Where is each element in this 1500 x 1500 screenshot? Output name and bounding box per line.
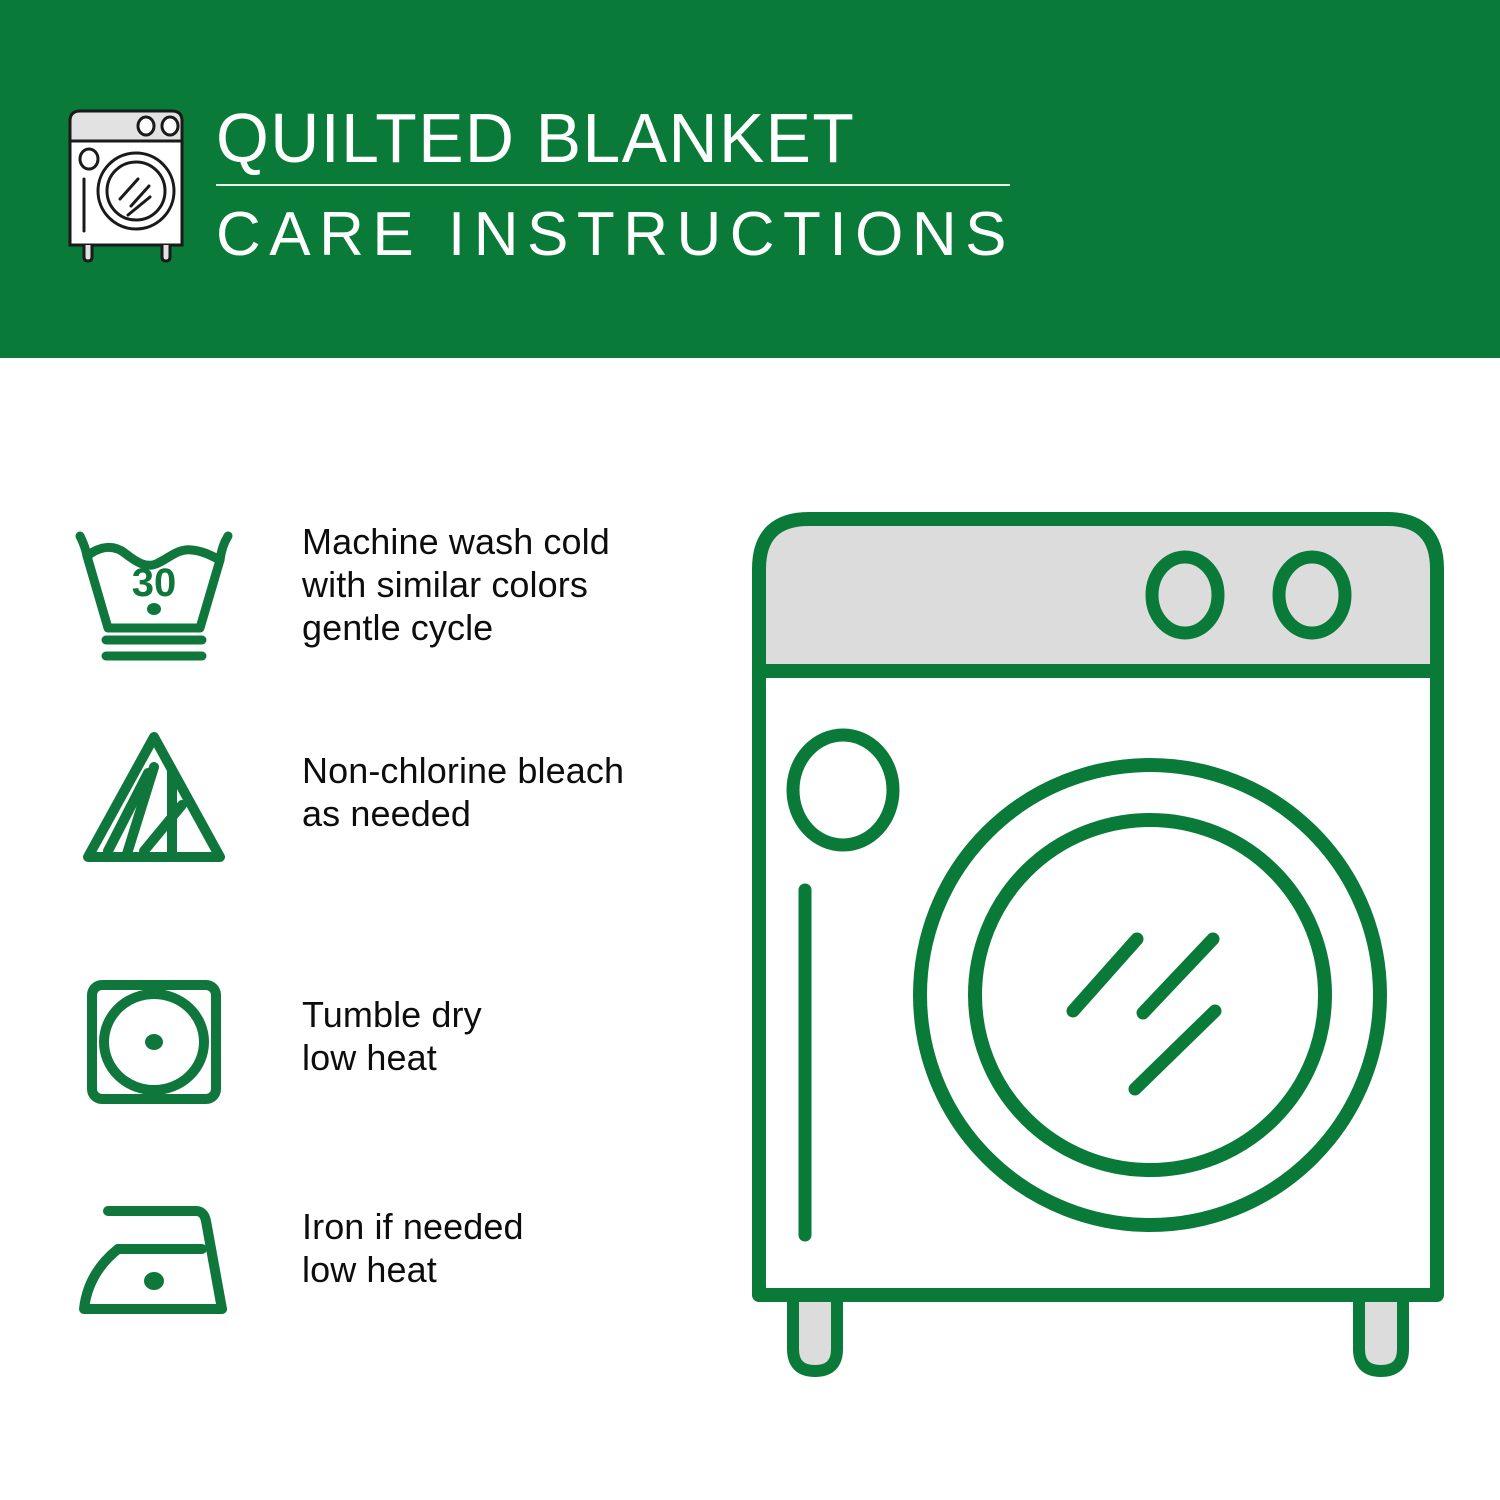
washer-drum xyxy=(975,820,1325,1170)
tumble-dry-low-heat-icon xyxy=(70,967,240,1122)
front-load-washing-machine-illustration xyxy=(745,495,1465,1425)
page-subtitle: CARE INSTRUCTIONS xyxy=(216,200,1116,270)
care-label-iron: Iron if needed low heat xyxy=(302,1205,524,1291)
care-instructions-page: QUILTED BLANKET CARE INSTRUCTIONS xyxy=(0,0,1500,1500)
header-banner: QUILTED BLANKET CARE INSTRUCTIONS xyxy=(0,0,1500,358)
care-row-wash: 30 Machine wash cold with similar colors… xyxy=(0,508,740,728)
care-row-tumble-dry: Tumble dry low heat xyxy=(0,963,740,1163)
control-knob xyxy=(1279,557,1345,633)
svg-text:30: 30 xyxy=(132,561,177,605)
care-row-bleach: Non-chlorine bleach as needed xyxy=(0,723,740,923)
machine-wash-30-gentle-icon: 30 xyxy=(70,524,240,679)
header-title-block: QUILTED BLANKET CARE INSTRUCTIONS xyxy=(216,98,1116,270)
care-label-tumble-dry: Tumble dry low heat xyxy=(302,993,482,1079)
non-chlorine-bleach-triangle-icon xyxy=(70,723,240,878)
control-knob xyxy=(1152,557,1218,633)
page-title: QUILTED BLANKET xyxy=(216,98,1089,178)
iron-low-heat-icon xyxy=(70,1197,240,1332)
title-divider xyxy=(216,184,1010,186)
detergent-drawer-indicator xyxy=(793,735,893,845)
care-row-iron: Iron if needed low heat xyxy=(0,1183,740,1373)
care-label-bleach: Non-chlorine bleach as needed xyxy=(302,749,624,835)
care-label-wash: Machine wash cold with similar colors ge… xyxy=(302,520,610,649)
care-instructions-list: 30 Machine wash cold with similar colors… xyxy=(0,358,740,1500)
washing-machine-icon xyxy=(62,103,194,263)
